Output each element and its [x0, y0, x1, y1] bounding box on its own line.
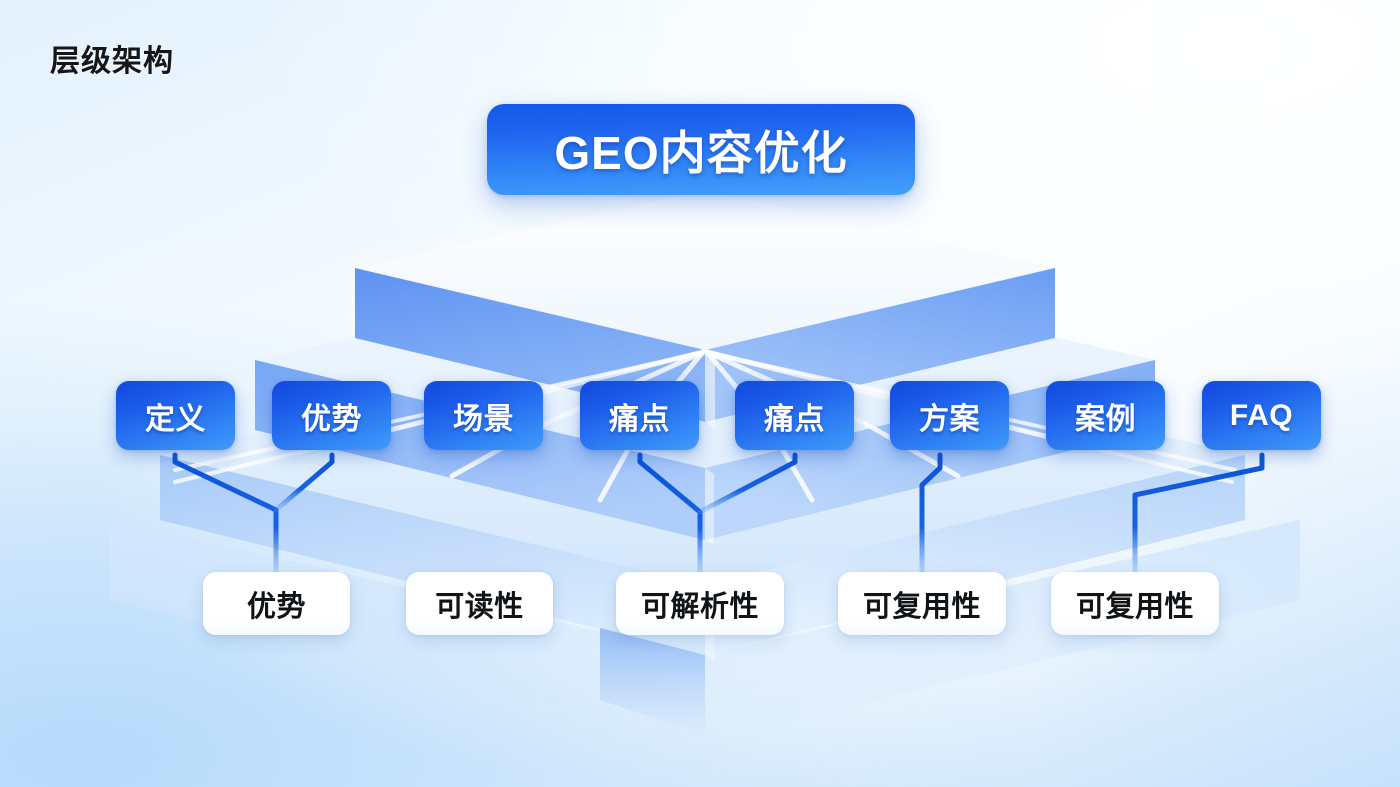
level3-label-2: 可读性	[435, 583, 524, 625]
level3-card-2[interactable]: 可读性	[406, 572, 553, 635]
level3-card-5[interactable]: 可复用性	[1051, 572, 1219, 635]
level2-label-3: 场景	[453, 394, 514, 438]
level2-label-4: 痛点	[609, 394, 670, 438]
root-node-card[interactable]: GEO内容优化	[487, 104, 915, 195]
level3-card-3[interactable]: 可解析性	[616, 572, 784, 635]
level2-label-6: 方案	[919, 394, 980, 438]
root-node-label: GEO内容优化	[554, 117, 847, 183]
level3-label-1: 优势	[247, 583, 306, 625]
level2-card-4[interactable]: 痛点	[580, 381, 699, 450]
level3-label-4: 可复用性	[863, 583, 981, 625]
level3-label-5: 可复用性	[1076, 583, 1194, 625]
level3-label-3: 可解析性	[641, 583, 759, 625]
level2-card-3[interactable]: 场景	[424, 381, 543, 450]
level2-label-2: 优势	[301, 394, 362, 438]
level2-label-1: 定义	[145, 394, 206, 438]
level2-card-6[interactable]: 方案	[890, 381, 1009, 450]
level2-card-5[interactable]: 痛点	[735, 381, 854, 450]
level2-card-2[interactable]: 优势	[272, 381, 391, 450]
slide-canvas: 层级架构 GEO内容优化 定义 优势 场景 痛点 痛点 方案 案例 FAQ 优势…	[0, 0, 1400, 787]
level2-label-7: 案例	[1075, 394, 1136, 438]
level2-label-5: 痛点	[764, 394, 825, 438]
page-title: 层级架构	[50, 36, 174, 80]
level2-label-8: FAQ	[1230, 399, 1293, 433]
level3-card-1[interactable]: 优势	[203, 572, 350, 635]
level2-card-8[interactable]: FAQ	[1202, 381, 1321, 450]
level3-card-4[interactable]: 可复用性	[838, 572, 1006, 635]
level2-card-7[interactable]: 案例	[1046, 381, 1165, 450]
level2-card-1[interactable]: 定义	[116, 381, 235, 450]
